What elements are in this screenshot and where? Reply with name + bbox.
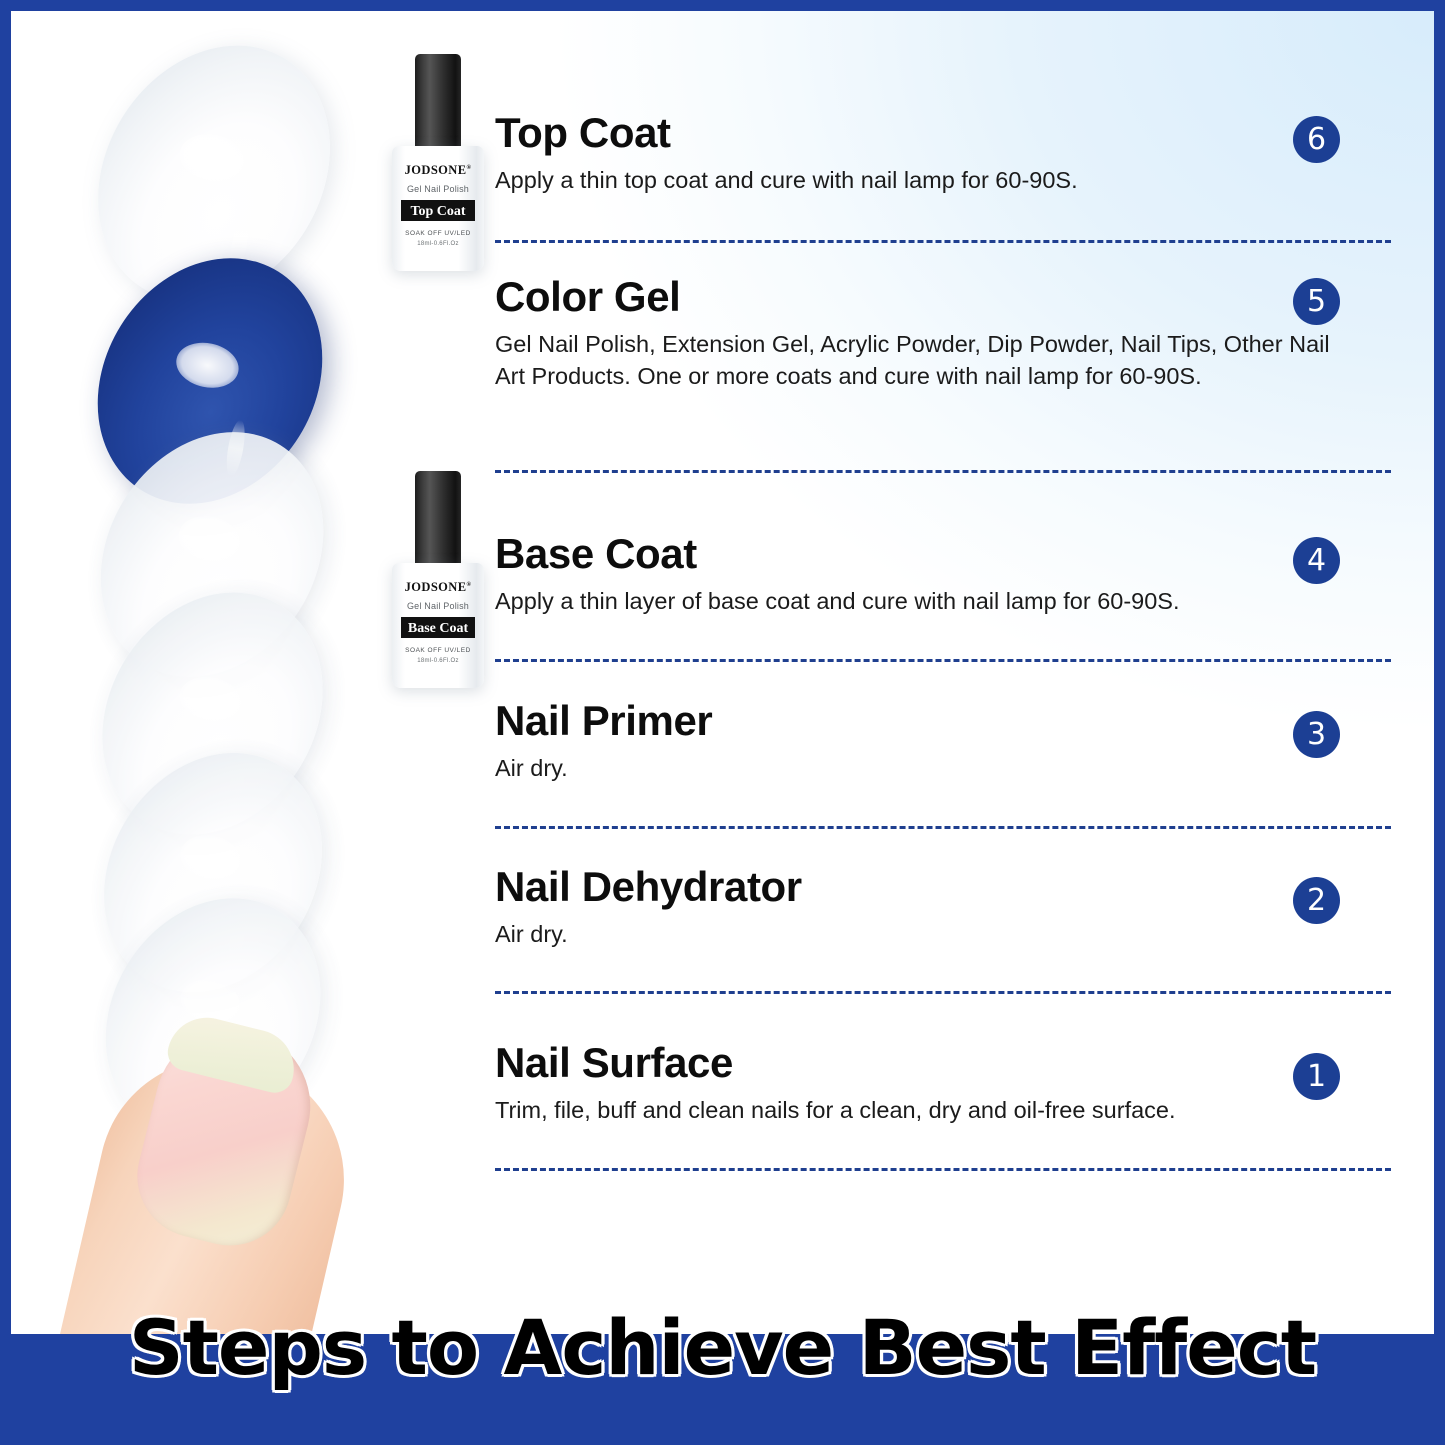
bottle-brand: JODSONE® <box>392 163 484 178</box>
content-canvas: JODSONE® Gel Nail Polish Top Coat SOAK O… <box>11 11 1434 1434</box>
step-title: Nail Primer <box>495 699 1395 743</box>
bottle-subtitle: Gel Nail Polish <box>392 184 484 194</box>
nail-gloss-highlight-icon <box>175 128 248 186</box>
bottle-volume: 18ml-0.6Fl.Oz <box>392 658 484 664</box>
step-title: Color Gel <box>495 275 1395 319</box>
step-item-nail-primer: Nail Primer Air dry. 3 <box>495 699 1395 785</box>
step-divider <box>495 826 1391 829</box>
bottle-subtitle: Gel Nail Polish <box>392 601 484 611</box>
bottle-volume: 18ml-0.6Fl.Oz <box>392 241 484 247</box>
registered-mark-icon: ® <box>466 582 471 588</box>
step-divider <box>495 659 1391 662</box>
step-divider <box>495 991 1391 994</box>
step-description: Apply a thin top coat and cure with nail… <box>495 165 1395 196</box>
step-title: Base Coat <box>495 532 1395 576</box>
registered-mark-icon: ® <box>466 165 471 171</box>
step-title: Nail Dehydrator <box>495 865 1395 909</box>
nail-gloss-highlight-icon <box>175 671 244 726</box>
step-description: Trim, file, buff and clean nails for a c… <box>495 1095 1395 1126</box>
step-number-badge: 2 <box>1293 877 1340 924</box>
step-description: Air dry. <box>495 919 1395 950</box>
step-item-color-gel: Color Gel Gel Nail Polish, Extension Gel… <box>495 275 1395 392</box>
step-number-badge: 6 <box>1293 116 1340 163</box>
bottle-body: JODSONE® Gel Nail Polish Top Coat SOAK O… <box>392 146 484 271</box>
step-divider <box>495 1168 1391 1171</box>
step-description: Gel Nail Polish, Extension Gel, Acrylic … <box>495 329 1340 392</box>
step-description: Air dry. <box>495 753 1395 784</box>
bottle-cure-note: SOAK OFF UV/LED <box>392 647 484 654</box>
step-divider <box>495 470 1391 473</box>
step-number-badge: 5 <box>1293 278 1340 325</box>
bottle-brand: JODSONE® <box>392 580 484 595</box>
bottle-product-name: Base Coat <box>401 617 475 638</box>
step-item-nail-surface: Nail Surface Trim, file, buff and clean … <box>495 1041 1395 1127</box>
bottle-cap <box>415 54 461 150</box>
bottle-body: JODSONE® Gel Nail Polish Base Coat SOAK … <box>392 563 484 688</box>
step-number-badge: 4 <box>1293 537 1340 584</box>
nail-gloss-highlight-icon <box>172 338 243 394</box>
nail-gloss-highlight-icon <box>176 830 244 885</box>
step-item-base-coat: Base Coat Apply a thin layer of base coa… <box>495 532 1395 618</box>
step-description: Apply a thin layer of base coat and cure… <box>495 586 1395 617</box>
step-item-top-coat: Top Coat Apply a thin top coat and cure … <box>495 111 1395 197</box>
step-title: Nail Surface <box>495 1041 1395 1085</box>
bottle-product-name: Top Coat <box>401 200 475 221</box>
bottle-top-coat: JODSONE® Gel Nail Polish Top Coat SOAK O… <box>392 54 484 274</box>
bottle-base-coat: JODSONE® Gel Nail Polish Base Coat SOAK … <box>392 471 484 691</box>
bottle-cure-note: SOAK OFF UV/LED <box>392 230 484 237</box>
infographic-page: JODSONE® Gel Nail Polish Top Coat SOAK O… <box>0 0 1445 1445</box>
nail-gloss-highlight-icon <box>174 511 244 567</box>
bottle-cap <box>415 471 461 567</box>
step-number-badge: 1 <box>1293 1053 1340 1100</box>
step-item-nail-dehydrator: Nail Dehydrator Air dry. 2 <box>495 865 1395 951</box>
step-title: Top Coat <box>495 111 1395 155</box>
step-divider <box>495 240 1391 243</box>
step-number-badge: 3 <box>1293 711 1340 758</box>
banner-title: Steps to Achieve Best Effect <box>11 1303 1434 1392</box>
steps-list: Top Coat Apply a thin top coat and cure … <box>495 11 1395 1341</box>
